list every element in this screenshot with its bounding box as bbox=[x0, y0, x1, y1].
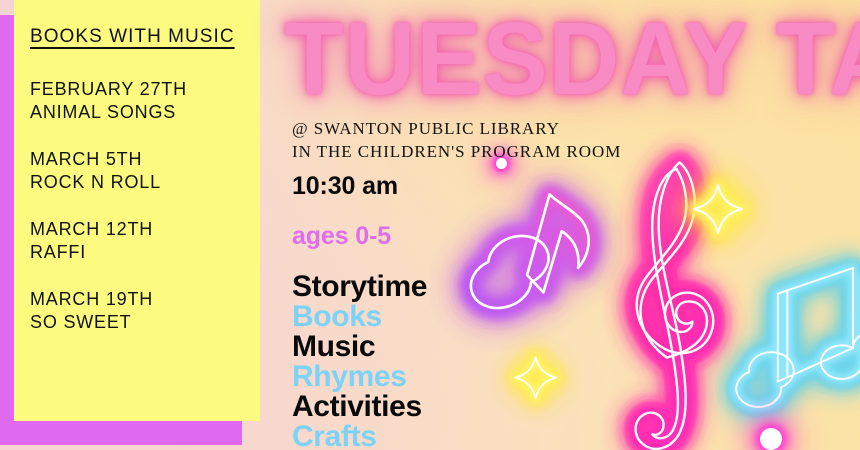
schedule-entry-topic: ROCK N ROLL bbox=[30, 171, 260, 194]
beamed-note-icon bbox=[736, 268, 860, 407]
activity-item: Rhymes bbox=[292, 362, 427, 392]
schedule-entry-date: MARCH 12TH bbox=[30, 218, 260, 241]
venue-line-room: IN THE CHILDREN'S PROGRAM ROOM bbox=[292, 141, 621, 164]
venue-info: @ SWANTON PUBLIC LIBRARY IN THE CHILDREN… bbox=[292, 118, 621, 163]
schedule-entry: MARCH 19TH SO SWEET bbox=[30, 288, 260, 334]
glow-dot-icon bbox=[760, 428, 782, 450]
schedule-entry-date: MARCH 5TH bbox=[30, 148, 260, 171]
poster-main: TUESDAY TALES @ SWANTON PUBLIC LIBRARY I… bbox=[260, 0, 860, 450]
page-title: TUESDAY TALES bbox=[284, 8, 860, 111]
activity-item: Music bbox=[292, 332, 427, 362]
schedule-entry: MARCH 12TH RAFFI bbox=[30, 218, 260, 264]
sparkle-icon bbox=[515, 357, 556, 398]
schedule-entry: FEBRUARY 27TH ANIMAL SONGS bbox=[30, 78, 260, 124]
activity-list: Storytime Books Music Rhymes Activities … bbox=[292, 272, 427, 450]
poster-canvas: BOOKS WITH MUSIC FEBRUARY 27TH ANIMAL SO… bbox=[0, 0, 860, 450]
schedule-entry: MARCH 5TH ROCK N ROLL bbox=[30, 148, 260, 194]
activity-item: Crafts bbox=[292, 422, 427, 450]
schedule-entry-topic: RAFFI bbox=[30, 241, 260, 264]
schedule-entry-date: FEBRUARY 27TH bbox=[30, 78, 260, 101]
activity-item: Storytime bbox=[292, 272, 427, 302]
schedule-entry-topic: SO SWEET bbox=[30, 311, 260, 334]
schedule-content: BOOKS WITH MUSIC FEBRUARY 27TH ANIMAL SO… bbox=[14, 0, 260, 421]
purple-bottom-bar bbox=[0, 421, 242, 445]
schedule-title: BOOKS WITH MUSIC bbox=[30, 26, 260, 48]
schedule-entry-date: MARCH 19TH bbox=[30, 288, 260, 311]
activity-item: Activities bbox=[292, 392, 427, 422]
age-range: ages 0-5 bbox=[292, 222, 391, 251]
schedule-entry-topic: ANIMAL SONGS bbox=[30, 101, 260, 124]
eighth-note-icon bbox=[471, 194, 589, 308]
event-time: 10:30 am bbox=[292, 172, 398, 201]
venue-line-library: @ SWANTON PUBLIC LIBRARY bbox=[292, 118, 621, 141]
treble-clef-icon bbox=[636, 162, 714, 449]
activity-item: Books bbox=[292, 302, 427, 332]
sparkle-icon bbox=[694, 185, 742, 233]
